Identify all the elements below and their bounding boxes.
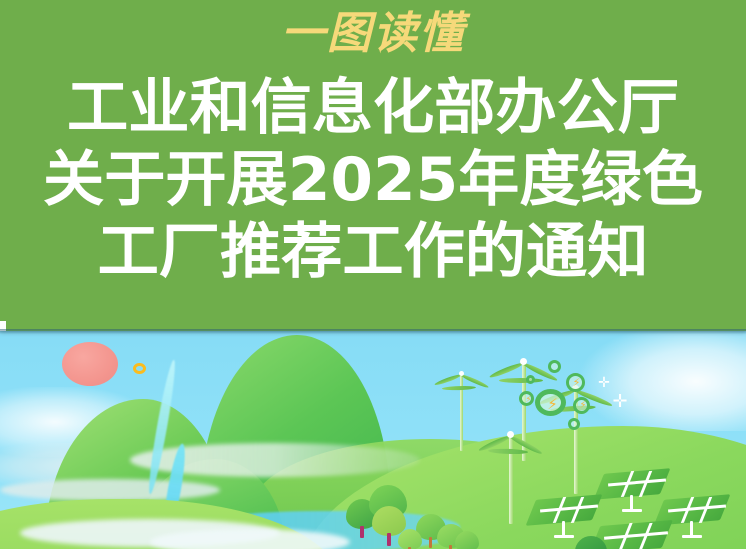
panel-leg [682, 535, 702, 538]
tree [575, 536, 609, 549]
turbine-blade [434, 373, 462, 386]
energy-bubble [548, 360, 561, 373]
tree-trunk [429, 537, 432, 548]
turbine-blade [499, 378, 543, 383]
energy-bubble [526, 375, 535, 384]
sun-ring-icon [133, 363, 146, 374]
energy-bubble: ⚡ [519, 391, 534, 406]
turbine-blade [489, 361, 524, 379]
tree [398, 529, 424, 549]
panel-leg [622, 509, 642, 512]
mist-band [0, 479, 220, 501]
panel-bottom-edge [0, 329, 746, 334]
mist-band [150, 529, 350, 549]
turbine-blade [488, 448, 528, 454]
tree-crown [575, 536, 607, 549]
tree [455, 531, 481, 549]
turbine-hub [507, 431, 514, 438]
bolt-icon: ⚡ [578, 401, 588, 411]
energy-bubble: ⚡ [573, 397, 590, 414]
sparkle-icon: ✛ [597, 375, 611, 389]
energy-bubble: ⚡ [566, 373, 585, 392]
turbine-hub [520, 358, 527, 365]
bolt-icon: ⚡ [571, 378, 582, 389]
bolt-icon: ⚡ [524, 395, 533, 404]
tree-crown [455, 531, 479, 549]
page-title: 工业和信息化部办公厅 关于开展2025年度绿色 工厂推荐工作的通知 [0, 72, 746, 288]
header-panel: 一图读懂 工业和信息化部办公厅 关于开展2025年度绿色 工厂推荐工作的通知 [0, 0, 746, 331]
tree-crown [398, 529, 422, 549]
panel-leg [554, 535, 574, 538]
infographic-poster: 一图读懂 工业和信息化部办公厅 关于开展2025年度绿色 工厂推荐工作的通知 [0, 0, 746, 549]
sparkle-icon: ✛ [611, 392, 629, 410]
bolt-icon: ⚡ [545, 397, 560, 412]
tree-trunk [387, 533, 391, 546]
tree-trunk [449, 545, 452, 549]
title-line-1: 工业和信息化部办公厅 [0, 72, 746, 144]
wind-turbine [448, 361, 488, 451]
energy-bubble [568, 418, 580, 430]
title-line-2: 关于开展2025年度绿色 [0, 144, 746, 216]
turbine-mast [460, 373, 463, 451]
sun-icon [62, 342, 118, 386]
turbine-hub [459, 371, 464, 376]
title-line-3: 工厂推荐工作的通知 [0, 216, 746, 288]
energy-bubble-main: ⚡ [535, 389, 566, 416]
landscape-illustration: ⚡ ⚡ ⚡ ⚡ ✛ ✛ [0, 331, 746, 549]
tree-trunk [360, 526, 364, 538]
turbine-mast [509, 434, 513, 524]
turbine-blade [442, 385, 476, 390]
eyebrow-label: 一图读懂 [0, 6, 746, 62]
